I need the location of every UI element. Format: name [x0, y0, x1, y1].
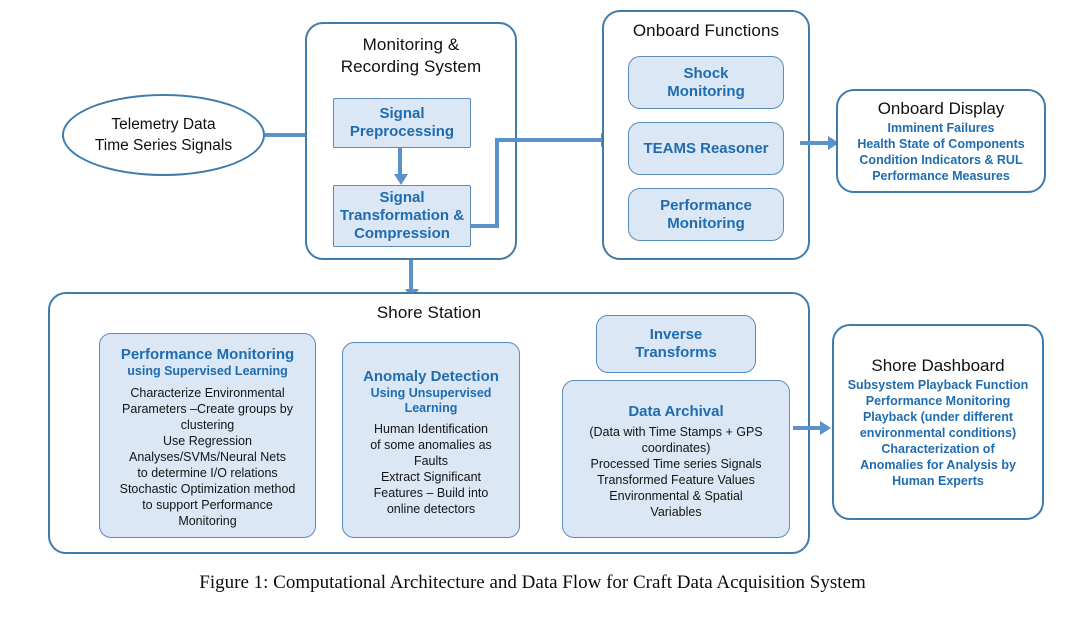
shore-anomaly-detection-subheading-1: Using Unsupervised — [371, 386, 492, 401]
signal-preprocessing-line2: Preprocessing — [350, 123, 454, 141]
teams-reasoner-block[interactable]: TEAMS Reasoner — [628, 122, 784, 175]
shore-data-archival-heading: Data Archival — [628, 403, 723, 421]
shore-dashboard-title: Shore Dashboard — [871, 355, 1004, 376]
telemetry-source-line1: Telemetry Data — [111, 114, 215, 135]
onboard-display-line-1: Imminent Failures — [888, 120, 995, 136]
data-archival-to-dashboard-segment — [793, 426, 823, 430]
monitoring-to-shore-segment — [409, 260, 413, 292]
signal-preprocessing-line1: Signal — [379, 105, 424, 123]
shore-anomaly-detection-heading: Anomaly Detection — [363, 368, 499, 386]
signal-transformation-line3: Compression — [354, 225, 450, 243]
shore-data-archival-line-6: Variables — [650, 504, 701, 520]
shore-performance-monitoring-line-1: Characterize Environmental — [130, 385, 284, 401]
shore-dashboard-line-3: Playback (under different — [863, 409, 1013, 425]
signal-transformation-line2: Transformation & — [340, 207, 464, 225]
shore-anomaly-detection-subheading-2: Learning — [405, 401, 458, 416]
signal-transformation-compression-block[interactable]: Signal Transformation & Compression — [333, 185, 471, 247]
shock-monitoring-block[interactable]: Shock Monitoring — [628, 56, 784, 109]
telemetry-source-ellipse: Telemetry Data Time Series Signals — [62, 94, 265, 176]
shore-performance-monitoring-line-3: clustering — [181, 417, 235, 433]
onboard-display-line-3: Condition Indicators & RUL — [859, 152, 1022, 168]
shore-performance-monitoring-heading: Performance Monitoring — [121, 346, 294, 364]
shore-dashboard-line-4: environmental conditions) — [860, 425, 1016, 441]
onboard-display-line-2: Health State of Components — [857, 136, 1024, 152]
onboard-display-group: Onboard Display Imminent Failures Health… — [836, 89, 1046, 193]
monitoring-system-title-line1: Monitoring & — [307, 34, 515, 55]
shore-inverse-transforms-line-1: Inverse — [650, 326, 703, 344]
shore-inverse-transforms-block[interactable]: Inverse Transforms — [596, 315, 756, 373]
data-archival-to-dashboard-arrowhead — [820, 421, 831, 435]
shore-dashboard-line-5: Characterization of — [881, 441, 994, 457]
shore-performance-monitoring-line-5: Analyses/SVMs/Neural Nets — [129, 449, 286, 465]
onboard-display-line-4: Performance Measures — [872, 168, 1010, 184]
preprocessing-to-transformation-arrowhead — [394, 174, 408, 185]
shore-performance-monitoring-block[interactable]: Performance Monitoring using Supervised … — [99, 333, 316, 538]
shore-performance-monitoring-line-8: to support Performance — [142, 497, 273, 513]
shock-monitoring-line2: Monitoring — [667, 83, 744, 101]
performance-monitoring-onboard-line1: Performance — [660, 197, 752, 215]
performance-monitoring-onboard-line2: Monitoring — [667, 215, 744, 233]
signal-transformation-line1: Signal — [379, 189, 424, 207]
shore-dashboard-line-7: Human Experts — [892, 473, 984, 489]
shore-anomaly-detection-line-1: Human Identification — [374, 421, 488, 437]
transformation-riser-segment — [495, 138, 499, 228]
shore-data-archival-line-4: Transformed Feature Values — [597, 472, 755, 488]
signal-preprocessing-block[interactable]: Signal Preprocessing — [333, 98, 471, 148]
transformation-to-onboard-segment — [495, 138, 605, 142]
shore-anomaly-detection-block[interactable]: Anomaly Detection Using Unsupervised Lea… — [342, 342, 520, 538]
onboard-display-title: Onboard Display — [878, 98, 1005, 119]
shore-anomaly-detection-line-3: Faults — [414, 453, 448, 469]
performance-monitoring-onboard-block[interactable]: Performance Monitoring — [628, 188, 784, 241]
monitoring-system-title-line2: Recording System — [307, 56, 515, 77]
shore-performance-monitoring-subheading: using Supervised Learning — [127, 364, 287, 379]
shore-performance-monitoring-line-4: Use Regression — [163, 433, 252, 449]
shore-dashboard-line-6: Anomalies for Analysis by — [860, 457, 1016, 473]
figure-caption: Figure 1: Computational Architecture and… — [0, 572, 1065, 594]
shore-performance-monitoring-line-9: Monitoring — [178, 513, 236, 529]
shore-performance-monitoring-line-7: Stochastic Optimization method — [120, 481, 296, 497]
teams-reasoner-label: TEAMS Reasoner — [643, 140, 768, 158]
shore-data-archival-line-3: Processed Time series Signals — [591, 456, 762, 472]
shore-performance-monitoring-line-6: to determine I/O relations — [137, 465, 277, 481]
shore-dashboard-group: Shore Dashboard Subsystem Playback Funct… — [832, 324, 1044, 520]
shore-dashboard-line-1: Subsystem Playback Function — [848, 377, 1029, 393]
shore-data-archival-line-1: (Data with Time Stamps + GPS — [589, 424, 762, 440]
telemetry-source-line2: Time Series Signals — [95, 135, 232, 156]
shore-anomaly-detection-line-2: of some anomalies as — [370, 437, 492, 453]
shore-anomaly-detection-line-6: online detectors — [387, 501, 475, 517]
shore-data-archival-line-5: Environmental & Spatial — [609, 488, 742, 504]
shore-data-archival-line-2: coordinates) — [642, 440, 711, 456]
onboard-functions-title: Onboard Functions — [604, 20, 808, 41]
shore-performance-monitoring-line-2: Parameters –Create groups by — [122, 401, 293, 417]
shore-inverse-transforms-line-2: Transforms — [635, 344, 717, 362]
shore-data-archival-block[interactable]: Data Archival (Data with Time Stamps + G… — [562, 380, 790, 538]
shore-dashboard-line-2: Performance Monitoring — [866, 393, 1010, 409]
shore-anomaly-detection-line-5: Features – Build into — [374, 485, 489, 501]
preprocessing-to-transformation-segment — [398, 148, 402, 176]
shore-anomaly-detection-line-4: Extract Significant — [381, 469, 481, 485]
shock-monitoring-line1: Shock — [683, 65, 728, 83]
figure-canvas: Telemetry Data Time Series Signals Monit… — [0, 0, 1065, 618]
